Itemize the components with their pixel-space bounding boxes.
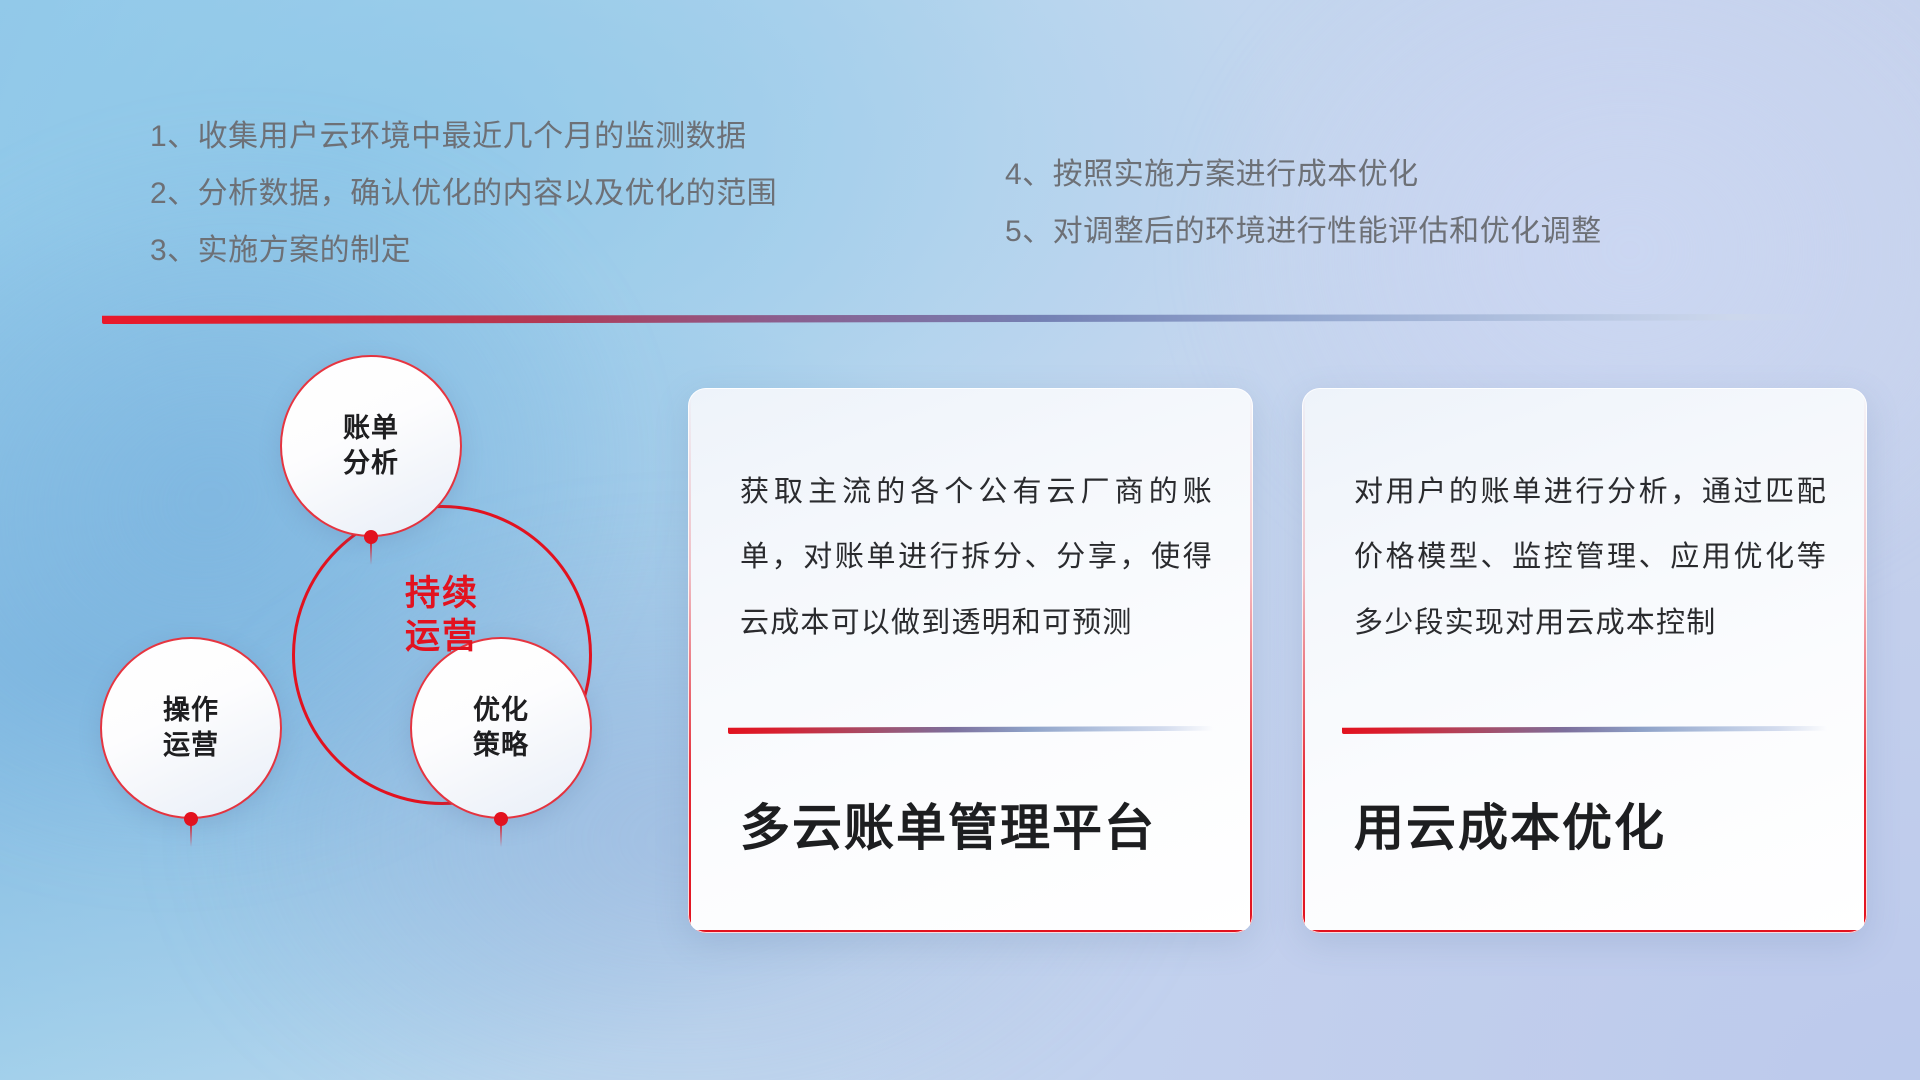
- feature-card-multicloud-billing[interactable]: 获取主流的各个公有云厂商的账单，对账单进行拆分、分享，使得云成本可以做到透明和可…: [688, 388, 1253, 933]
- diagram-node-tail-left: [190, 825, 192, 847]
- diagram-node-tail-top: [370, 543, 372, 565]
- diagram-node-dot-right: [494, 812, 508, 826]
- card-title: 用云成本优化: [1354, 798, 1827, 858]
- step-item-3: 3、实施方案的制定: [150, 236, 777, 266]
- card-divider-rule: [1342, 726, 1827, 734]
- card-body-text: 对用户的账单进行分析，通过匹配价格模型、监控管理、应用优化等多少段实现对用云成本…: [1354, 460, 1827, 656]
- diagram-bubble-optimization-strategy[interactable]: 优化 策略: [410, 637, 592, 819]
- bubble-label-line2: 策略: [473, 728, 529, 763]
- bubble-label-line2: 分析: [343, 446, 399, 481]
- diagram-bubble-billing-analysis[interactable]: 账单 分析: [280, 355, 462, 537]
- card-edge-bottom: [688, 930, 1253, 933]
- bubble-label-line2: 运营: [163, 728, 219, 763]
- step-item-2: 2、分析数据，确认优化的内容以及优化的范围: [150, 179, 777, 209]
- center-label-line2: 运营: [292, 616, 592, 659]
- diagram-node-dot-top: [364, 530, 378, 544]
- card-edge-left: [688, 388, 691, 933]
- card-edge-right: [1250, 388, 1253, 933]
- steps-list-right: 4、按照实施方案进行成本优化 5、对调整后的环境进行性能评估和优化调整: [1005, 160, 1602, 247]
- steps-list-left: 1、收集用户云环境中最近几个月的监测数据 2、分析数据，确认优化的内容以及优化的…: [150, 122, 777, 266]
- card-title: 多云账单管理平台: [740, 798, 1213, 858]
- card-divider-rule: [728, 726, 1213, 734]
- card-edge-bottom: [1302, 930, 1867, 933]
- diagram-bubble-operations[interactable]: 操作 运营: [100, 637, 282, 819]
- bubble-label-line1: 操作: [163, 693, 219, 728]
- continuous-operation-diagram: 账单 分析 操作 运营 优化 策略 持续 运营: [100, 355, 660, 955]
- diagram-node-tail-right: [500, 825, 502, 847]
- step-item-1: 1、收集用户云环境中最近几个月的监测数据: [150, 122, 777, 152]
- feature-card-cloud-cost-optimization[interactable]: 对用户的账单进行分析，通过匹配价格模型、监控管理、应用优化等多少段实现对用云成本…: [1302, 388, 1867, 933]
- bubble-label-line1: 账单: [343, 411, 399, 446]
- diagram-node-dot-left: [184, 812, 198, 826]
- card-body-text: 获取主流的各个公有云厂商的账单，对账单进行拆分、分享，使得云成本可以做到透明和可…: [740, 460, 1213, 656]
- slide-canvas: 1、收集用户云环境中最近几个月的监测数据 2、分析数据，确认优化的内容以及优化的…: [0, 0, 1920, 1080]
- diagram-center-label: 持续 运营: [292, 573, 592, 658]
- step-item-4: 4、按照实施方案进行成本优化: [1005, 160, 1602, 190]
- center-label-line1: 持续: [292, 573, 592, 616]
- card-edge-left: [1302, 388, 1305, 933]
- card-edge-right: [1864, 388, 1867, 933]
- step-item-5: 5、对调整后的环境进行性能评估和优化调整: [1005, 217, 1602, 247]
- bubble-label-line1: 优化: [473, 693, 529, 728]
